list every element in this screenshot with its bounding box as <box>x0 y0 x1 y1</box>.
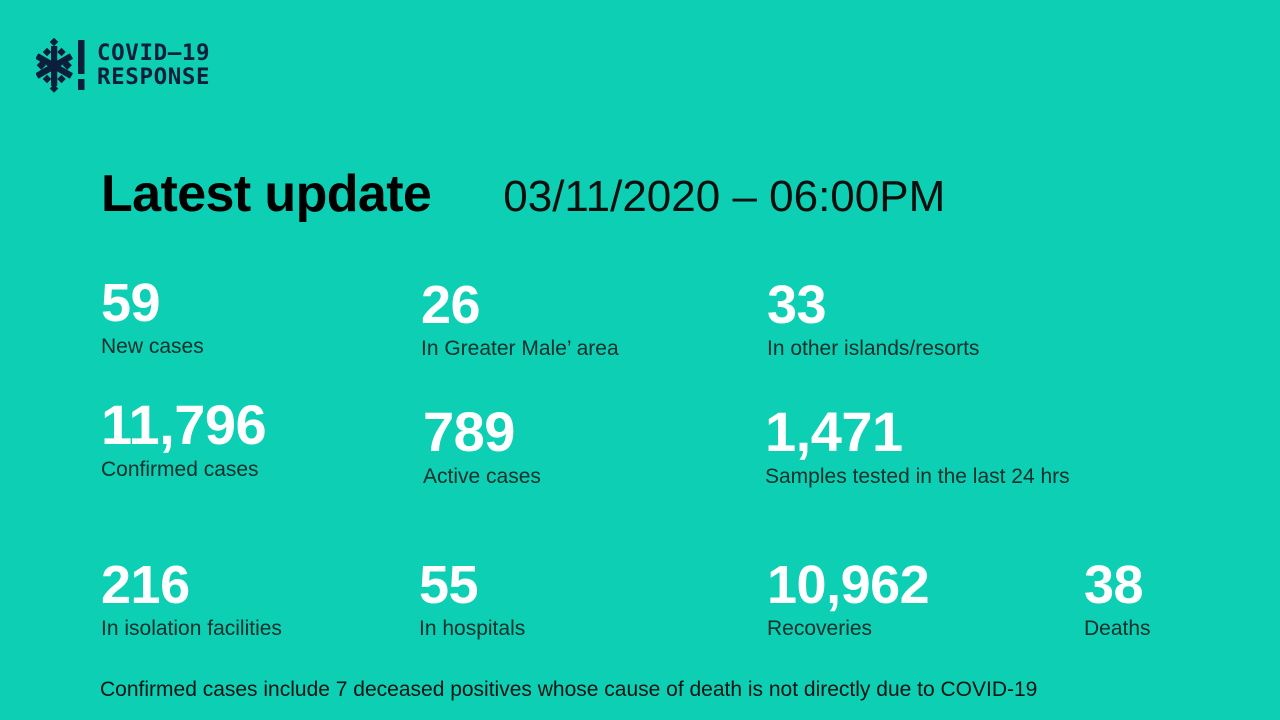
stat-label: Deaths <box>1084 617 1151 641</box>
stat-value: 55 <box>419 558 525 612</box>
header: Latest update 03/11/2020 – 06:00PM <box>101 168 945 220</box>
stat-deaths: 38 Deaths <box>1084 558 1151 641</box>
logo-line-2: RESPONSE <box>97 66 210 90</box>
stat-value: 789 <box>423 404 541 460</box>
stat-confirmed-cases: 11,796 Confirmed cases <box>101 397 266 482</box>
stat-value: 216 <box>101 558 282 612</box>
stat-value: 59 <box>101 276 204 330</box>
stat-isolation-facilities: 216 In isolation facilities <box>101 558 282 641</box>
stat-label: Recoveries <box>767 617 929 641</box>
asterisk-burst-icon <box>36 38 88 94</box>
stat-label: In hospitals <box>419 617 525 641</box>
stat-greater-male-area: 26 In Greater Male’ area <box>421 278 619 361</box>
stat-new-cases: 59 New cases <box>101 276 204 359</box>
stat-label: In other islands/resorts <box>767 337 979 361</box>
stat-other-islands-resorts: 33 In other islands/resorts <box>767 278 979 361</box>
footnote: Confirmed cases include 7 deceased posit… <box>100 678 1037 701</box>
stat-label: New cases <box>101 335 204 359</box>
stat-label: In Greater Male’ area <box>421 337 619 361</box>
stat-value: 38 <box>1084 558 1151 612</box>
stat-recoveries: 10,962 Recoveries <box>767 558 929 641</box>
stat-value: 11,796 <box>101 397 266 453</box>
stat-label: Confirmed cases <box>101 458 266 482</box>
logo-wordmark: COVID–19 RESPONSE <box>97 42 210 90</box>
slide-canvas: COVID–19 RESPONSE Latest update 03/11/20… <box>0 0 1280 720</box>
update-timestamp: 03/11/2020 – 06:00PM <box>503 175 945 219</box>
stat-active-cases: 789 Active cases <box>423 404 541 489</box>
stat-samples-tested: 1,471 Samples tested in the last 24 hrs <box>765 404 1070 489</box>
stat-label: Samples tested in the last 24 hrs <box>765 465 1070 489</box>
stat-value: 26 <box>421 278 619 332</box>
stat-in-hospitals: 55 In hospitals <box>419 558 525 641</box>
stat-value: 10,962 <box>767 558 929 612</box>
covid19-response-logo: COVID–19 RESPONSE <box>36 38 210 94</box>
stat-value: 1,471 <box>765 404 1070 460</box>
exclamation-mark-icon <box>78 40 85 90</box>
stat-label: Active cases <box>423 465 541 489</box>
stat-value: 33 <box>767 278 979 332</box>
page-title: Latest update <box>101 168 431 220</box>
logo-line-1: COVID–19 <box>97 42 210 66</box>
stat-label: In isolation facilities <box>101 617 282 641</box>
